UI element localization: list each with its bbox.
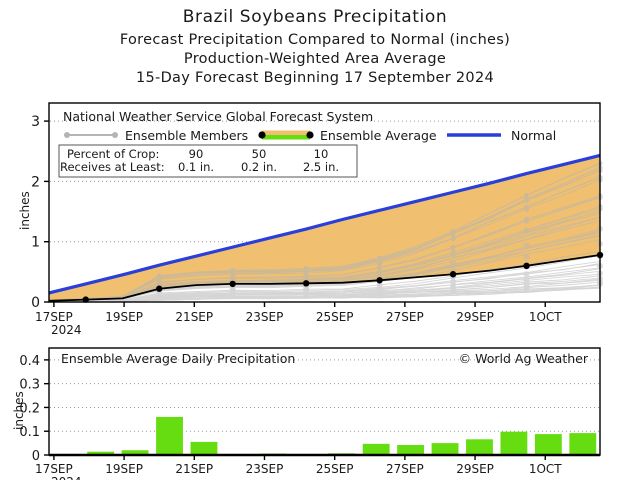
ensemble-average-point (450, 271, 456, 277)
crop-table-amount: 0.1 in. (178, 160, 214, 174)
normal-legend-label: Normal (511, 128, 556, 143)
xtick-label: 27SEP (386, 310, 424, 324)
bar (500, 432, 527, 455)
daily-precipitation-chart: 00.10.20.30.417SEP19SEP21SEP23SEP25SEP27… (0, 340, 630, 480)
source-label: National Weather Service Global Forecast… (63, 109, 373, 124)
ytick-label: 0.3 (19, 378, 40, 393)
crop-table-amount: 0.2 in. (241, 160, 277, 174)
xaxis-year-label: 2024 (51, 475, 82, 480)
ytick-label: 0 (31, 295, 40, 311)
xtick-label: 19SEP (105, 310, 143, 324)
bar (569, 433, 596, 455)
crop-table-percent: 50 (252, 147, 267, 161)
ensemble-member-point (450, 250, 455, 255)
copyright-credit: © World Ag Weather (459, 351, 589, 366)
ensemble-members-legend-dot (112, 132, 118, 138)
crop-table-amount: 2.5 in. (303, 160, 339, 174)
bar (535, 434, 562, 455)
xtick-label: 29SEP (456, 310, 494, 324)
chart-title: Brazil Soybeans Precipitation (0, 7, 630, 27)
xtick-label: 29SEP (456, 462, 494, 476)
xtick-label: 17SEP (35, 462, 73, 476)
xtick-label: 25SEP (316, 462, 354, 476)
ensemble-members-legend-label: Ensemble Members (125, 128, 248, 143)
ensemble-member-point (450, 236, 455, 241)
ensemble-average-legend-label: Ensemble Average (320, 128, 437, 143)
xtick-label: 23SEP (246, 462, 284, 476)
ensemble-member-point (524, 197, 529, 202)
xtick-label: 1OCT (529, 462, 562, 476)
ensemble-member-point (524, 218, 529, 223)
xtick-label: 23SEP (246, 310, 284, 324)
xaxis-year-label: 2024 (51, 323, 82, 335)
ensemble-member-point (524, 277, 530, 283)
crop-table-row1-label: Percent of Crop: (67, 147, 159, 161)
ensemble-average-point (156, 286, 162, 292)
ytick-label: 1 (31, 235, 40, 251)
ensemble-member-point (524, 206, 529, 211)
ensemble-member-point (450, 245, 455, 250)
bar (432, 443, 459, 455)
crop-table-percent: 10 (314, 147, 329, 161)
xtick-label: 17SEP (35, 310, 73, 324)
xtick-label: 21SEP (175, 310, 213, 324)
ensemble-member-point (524, 271, 530, 277)
chart-subtitle-2: Production-Weighted Area Average (0, 51, 630, 67)
ytick-label: 3 (31, 114, 40, 130)
ensemble-average-legend-dot (306, 131, 313, 138)
ensemble-average-point (376, 277, 382, 283)
chart-page: Brazil Soybeans Precipitation Forecast P… (0, 0, 630, 483)
bar (363, 444, 390, 455)
bar (466, 439, 493, 455)
xtick-label: 1OCT (529, 310, 562, 324)
ytick-label: 0.4 (19, 354, 40, 369)
ensemble-average-point (303, 280, 309, 286)
ensemble-member-point (524, 227, 529, 232)
bar (156, 417, 183, 455)
title-block: Brazil Soybeans Precipitation Forecast P… (0, 0, 630, 86)
xtick-label: 19SEP (105, 462, 143, 476)
crop-table-percent: 90 (189, 147, 204, 161)
ensemble-member-point (450, 231, 455, 236)
crop-table-row2-label: Receives at Least: (60, 160, 165, 174)
ensemble-member-point (524, 242, 530, 248)
xtick-label: 25SEP (316, 310, 354, 324)
ytick-label: 2 (31, 174, 40, 190)
chart-subtitle-3: 15-Day Forecast Beginning 17 September 2… (0, 70, 630, 86)
ensemble-member-point (377, 261, 382, 266)
ensemble-member-point (524, 254, 530, 260)
ensemble-member-point (450, 260, 456, 266)
ensemble-average-legend-dot (258, 131, 265, 138)
bar (191, 442, 218, 455)
chart-subtitle-1: Forecast Precipitation Compared to Norma… (0, 32, 630, 48)
cumulative-precipitation-chart: 012317SEP19SEP21SEP23SEP25SEP27SEP29SEP1… (0, 95, 630, 335)
ensemble-average-legend-band-orange (262, 131, 310, 136)
bar (397, 445, 424, 455)
xtick-label: 27SEP (386, 462, 424, 476)
xtick-label: 21SEP (175, 462, 213, 476)
ensemble-average-point (229, 281, 235, 287)
bottom-panel-title: Ensemble Average Daily Precipitation (61, 351, 295, 366)
ytick-label: 0.2 (19, 401, 40, 416)
ensemble-members-legend-dot (64, 132, 70, 138)
ensemble-average-point (523, 263, 529, 269)
ensemble-average-legend-band-green (262, 135, 310, 140)
ytick-label: 0.1 (19, 425, 40, 440)
